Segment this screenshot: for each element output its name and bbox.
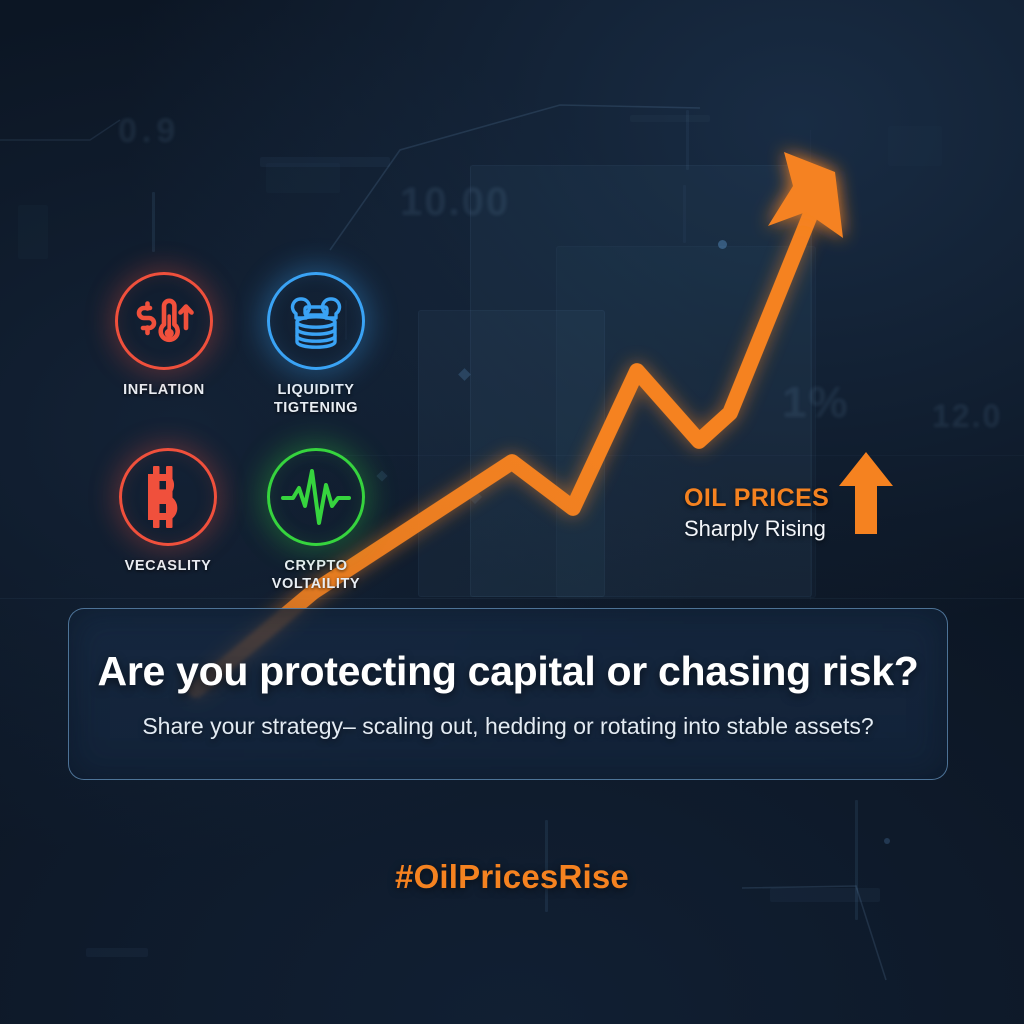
social-graphic-canvas: 10.00 1% 0.9 12.0 (0, 0, 1024, 1024)
cta-headline: Are you protecting capital or chasing ri… (98, 648, 919, 695)
cta-subline: Share your strategy– scaling out, heddin… (142, 713, 873, 740)
arrow-up-icon (839, 452, 893, 534)
hashtag-label[interactable]: #OilPricesRise (0, 858, 1024, 896)
engagement-question-panel[interactable]: Are you protecting capital or chasing ri… (68, 608, 948, 780)
